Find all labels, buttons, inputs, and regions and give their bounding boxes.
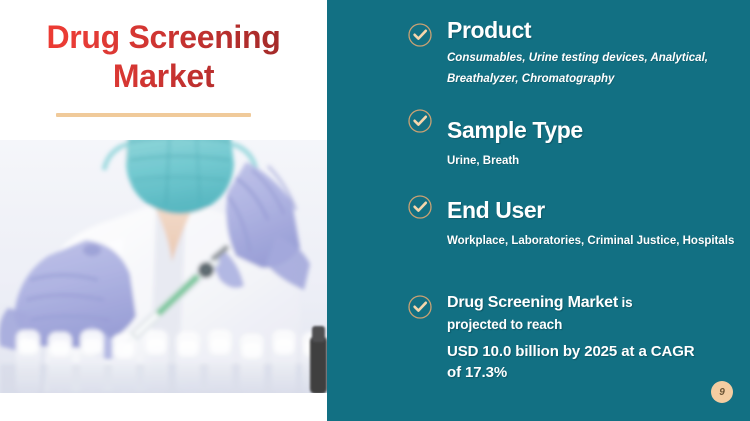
bullet-description-product: Consumables, Urine testing devices, Anal… xyxy=(447,48,742,91)
slide-root: Drug ScreeningMarket xyxy=(0,0,750,421)
bullet-body-product: Product Consumables, Urine testing devic… xyxy=(447,18,742,90)
market-projection-line-1: Drug Screening Market is xyxy=(447,292,742,315)
page-title: Drug ScreeningMarket xyxy=(14,18,313,96)
bullet-body-market-projection: Drug Screening Market is projected to re… xyxy=(447,292,742,383)
bullet-body-end-user: End User Workplace, Laboratories, Crimin… xyxy=(447,198,742,252)
lab-technician-photo xyxy=(0,140,327,393)
left-panel: Drug ScreeningMarket xyxy=(0,0,327,421)
check-circle-icon xyxy=(407,194,433,220)
page-number-badge: 9 xyxy=(711,381,733,403)
market-projection-line-2: projected to reach xyxy=(447,315,742,334)
check-circle-icon xyxy=(407,108,433,134)
bullet-heading-product: Product xyxy=(447,18,742,44)
title-underline-rule xyxy=(56,113,251,117)
market-projection-strong: Drug Screening Market xyxy=(447,294,618,311)
page-title-line-1: Drug Screening xyxy=(46,19,280,55)
market-projection-line-3: USD 10.0 billion by 2025 at a CAGR xyxy=(447,341,742,362)
bullet-description-sample-type: Urine, Breath xyxy=(447,151,742,172)
page-title-line-2: Market xyxy=(113,58,214,94)
check-circle-icon xyxy=(407,22,433,48)
bullet-description-end-user: Workplace, Laboratories, Criminal Justic… xyxy=(447,231,742,252)
market-projection-lead-rest: is xyxy=(618,295,632,310)
right-content-panel: Product Consumables, Urine testing devic… xyxy=(327,0,750,421)
bullet-row-end-user: End User Workplace, Laboratories, Crimin… xyxy=(327,190,750,244)
bullet-heading-end-user: End User xyxy=(447,198,742,224)
check-circle-icon xyxy=(407,294,433,320)
title-block: Drug ScreeningMarket xyxy=(0,18,327,96)
bullet-body-sample-type: Sample Type Urine, Breath xyxy=(447,118,742,172)
bullet-heading-sample-type: Sample Type xyxy=(447,118,742,144)
market-projection-line-4: of 17.3% xyxy=(447,362,742,383)
bullet-row-sample-type: Sample Type Urine, Breath xyxy=(327,104,750,158)
